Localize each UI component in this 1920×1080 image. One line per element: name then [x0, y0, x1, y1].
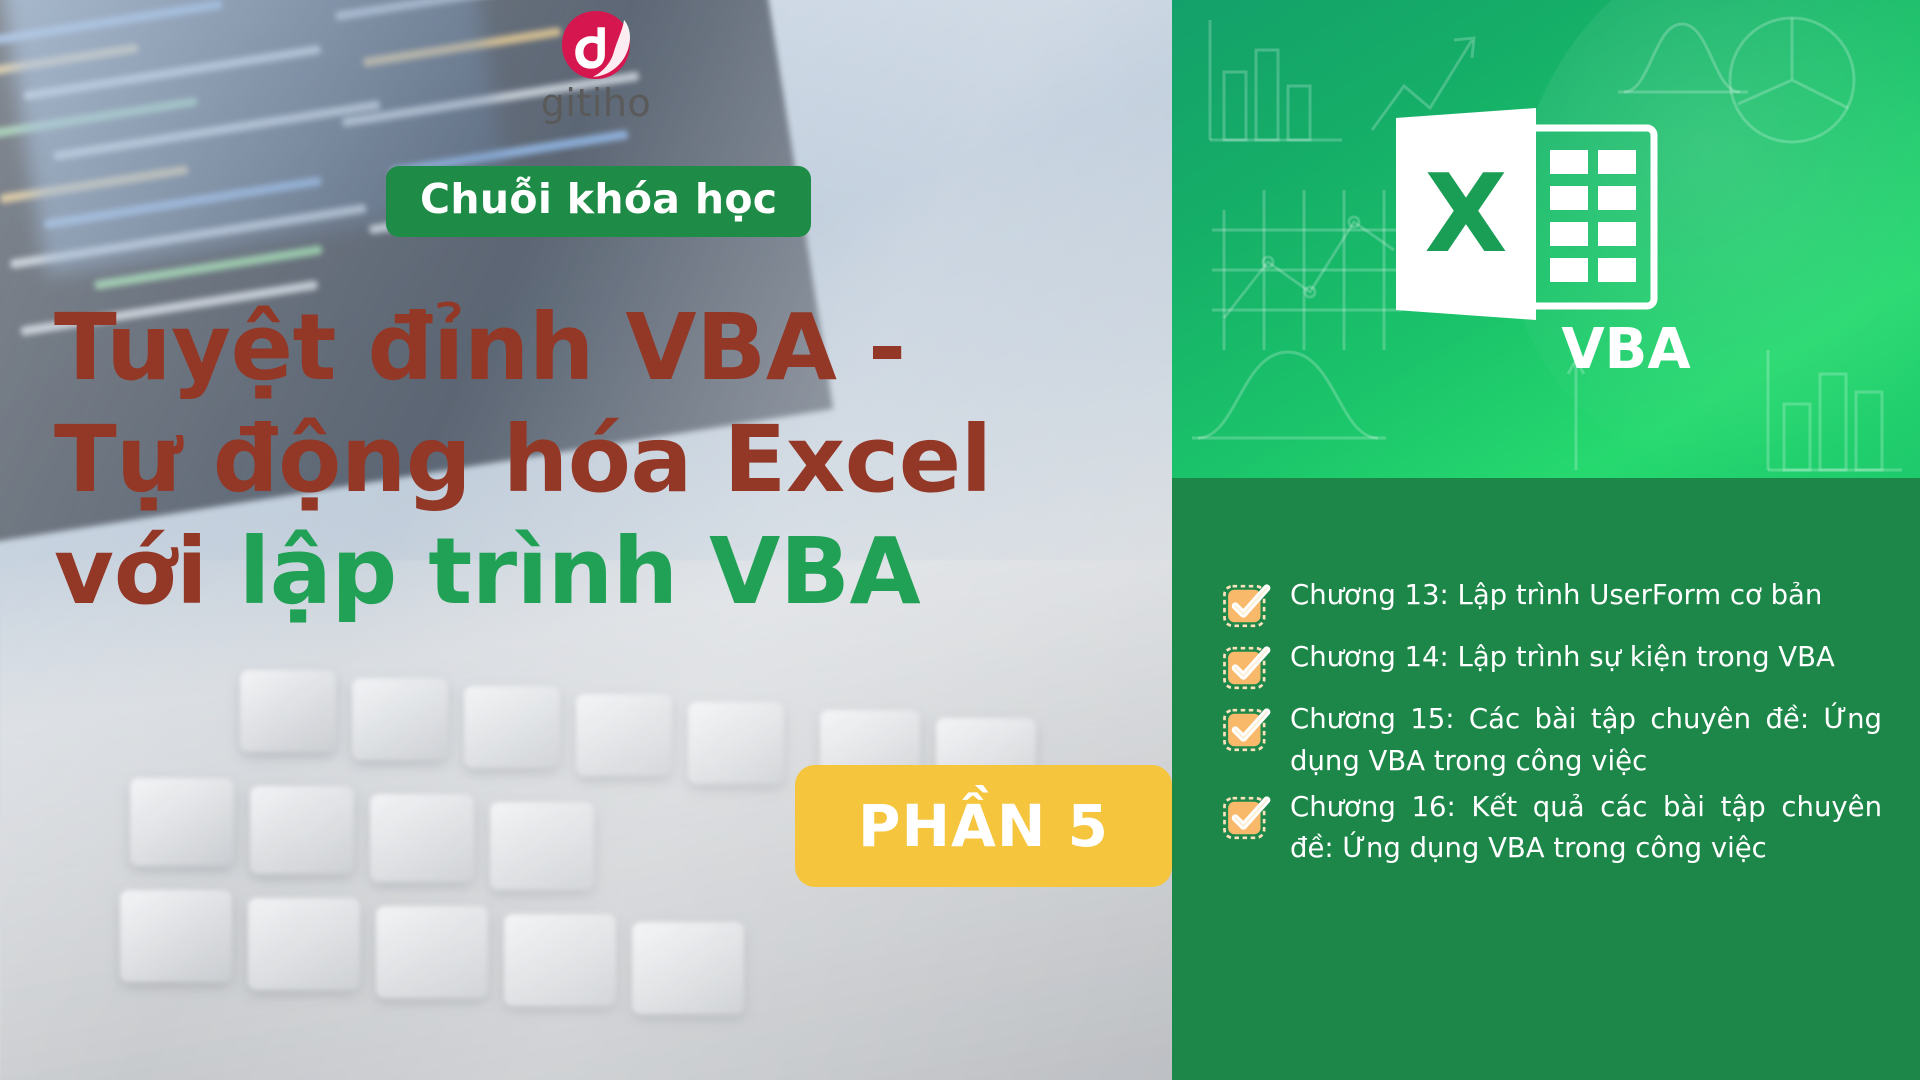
chapter-list: Chương 13: Lập trình UserForm cơ bản Chư…	[1220, 575, 1882, 874]
gitiho-logo: gitiho	[536, 8, 656, 128]
list-item: Chương 15: Các bài tập chuyên đề: Ứng dụ…	[1220, 699, 1882, 783]
title-line-3-prefix: với	[54, 518, 239, 625]
checkbox-checked-icon	[1220, 641, 1274, 695]
chapter-label: Chương 15: Các bài tập chuyên đề: Ứng dụ…	[1290, 699, 1882, 783]
title-line-3: với lập trình VBA	[54, 516, 1164, 628]
list-item: Chương 13: Lập trình UserForm cơ bản	[1220, 575, 1882, 633]
course-thumbnail: gitiho Chuỗi khóa học Tuyệt đỉnh VBA - T…	[0, 0, 1920, 1080]
excel-logo-icon: X VBA	[1374, 106, 1696, 386]
checkbox-checked-icon	[1220, 703, 1274, 757]
svg-text:X: X	[1424, 152, 1507, 277]
checkbox-checked-icon	[1220, 579, 1274, 633]
list-item: Chương 16: Kết quả các bài tập chuyên đề…	[1220, 787, 1882, 871]
chapter-label: Chương 16: Kết quả các bài tập chuyên đề…	[1290, 787, 1882, 871]
page-title: Tuyệt đỉnh VBA - Tự động hóa Excel với l…	[54, 292, 1164, 629]
part-badge: PHẦN 5	[795, 765, 1172, 887]
chapter-label: Chương 14: Lập trình sự kiện trong VBA	[1290, 637, 1835, 679]
chapter-label: Chương 13: Lập trình UserForm cơ bản	[1290, 575, 1822, 617]
series-badge: Chuỗi khóa học	[386, 166, 811, 237]
gitiho-logo-icon	[559, 8, 633, 82]
excel-vba-panel: X VBA	[1172, 0, 1920, 478]
chapter-list-panel: Chương 13: Lập trình UserForm cơ bản Chư…	[1172, 478, 1920, 1080]
gitiho-wordmark: gitiho	[541, 84, 651, 122]
left-photo-panel: gitiho Chuỗi khóa học Tuyệt đỉnh VBA - T…	[0, 0, 1172, 1080]
title-line-2: Tự động hóa Excel	[54, 404, 1164, 516]
checkbox-checked-icon	[1220, 791, 1274, 845]
title-line-1: Tuyệt đỉnh VBA -	[54, 292, 1164, 404]
list-item: Chương 14: Lập trình sự kiện trong VBA	[1220, 637, 1882, 695]
excel-vba-label: VBA	[1561, 317, 1691, 382]
title-line-3-highlight: lập trình VBA	[239, 518, 920, 625]
